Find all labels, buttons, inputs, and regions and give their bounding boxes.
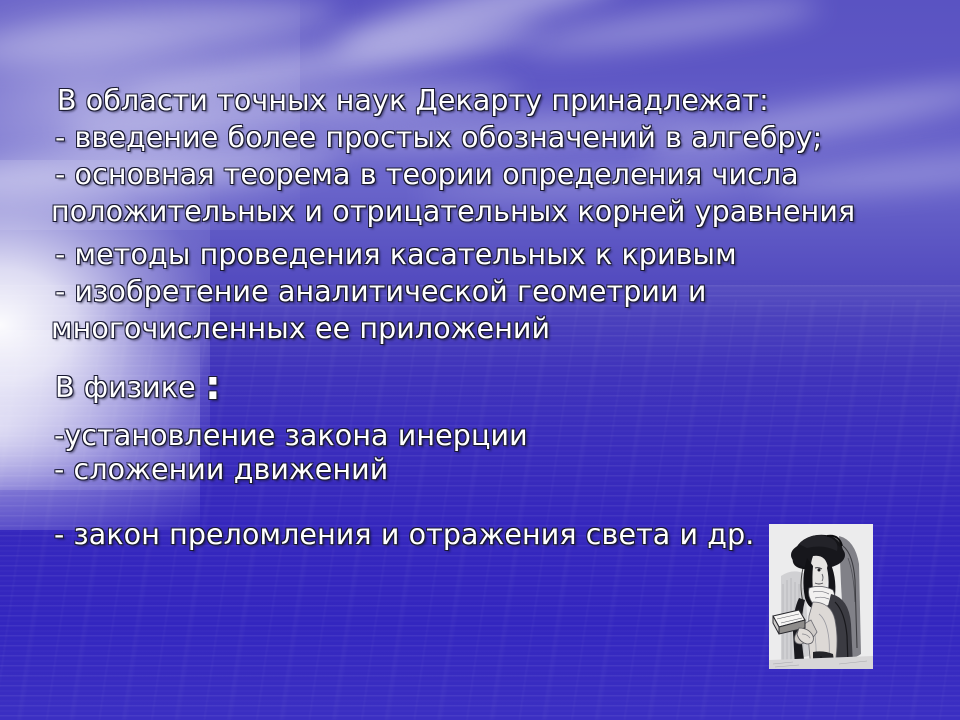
math-bullet-4: - изобретение аналитической геометрии и (55, 277, 706, 307)
math-section-heading: В области точных наук Декарту принадлежа… (57, 86, 769, 116)
math-bullet-3: - методы проведения касательных к кривым (55, 240, 737, 270)
physics-bullet-2: - сложении движений (54, 455, 388, 485)
presentation-slide: В области точных наук Декарту принадлежа… (0, 0, 960, 720)
physics-bullet-1: -установление закона инерции (54, 421, 528, 451)
descartes-engraving (769, 524, 873, 669)
math-bullet-1: - введение более простых обозначений в а… (55, 123, 822, 153)
math-bullet-2-continuation: положительных и отрицательных корней ура… (51, 197, 855, 227)
math-bullet-2: - основная теорема в теории определения … (55, 160, 799, 190)
physics-bullet-3: - закон преломления и отражения света и … (54, 520, 754, 550)
physics-heading-colon: : (205, 363, 221, 409)
physics-heading-text: В физике (55, 371, 196, 404)
math-bullet-4-continuation: многочисленных ее приложений (51, 314, 550, 344)
physics-section-heading: В физике : (55, 372, 221, 403)
descartes-portrait-image (769, 524, 873, 669)
